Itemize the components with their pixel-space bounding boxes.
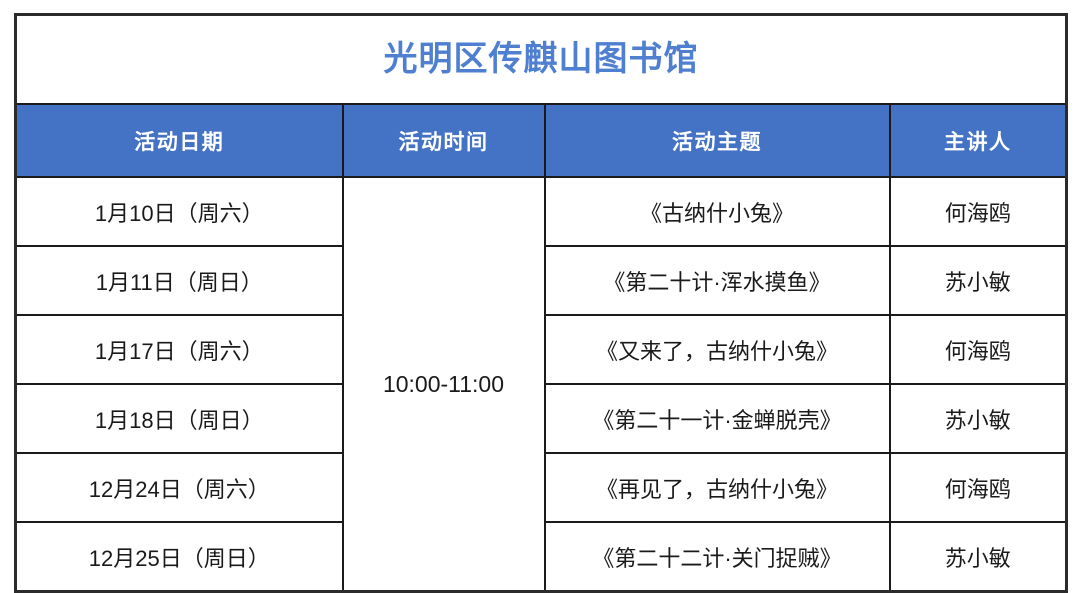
column-header-topic-label: 活动主题 <box>672 131 762 154</box>
column-header-time: 活动时间 <box>343 104 545 177</box>
activity-topic: 《古纳什小兔》 <box>640 201 794 226</box>
cell-time-merged: 10:00-11:00 <box>343 177 545 592</box>
cell-date: 12月24日（周六） <box>16 453 343 522</box>
activity-topic: 《再见了，古纳什小兔》 <box>596 477 838 502</box>
cell-date: 1月11日（周日） <box>16 246 343 315</box>
activity-topic: 《第二十二计·关门捉贼》 <box>592 546 841 571</box>
cell-speaker: 何海鸥 <box>890 177 1067 246</box>
cell-date: 1月10日（周六） <box>16 177 343 246</box>
column-header-time-label: 活动时间 <box>399 131 489 154</box>
column-header-topic: 活动主题 <box>545 104 890 177</box>
column-header-date: 活动日期 <box>16 104 343 177</box>
activity-speaker: 苏小敏 <box>945 408 1011 433</box>
activity-date: 12月24日（周六） <box>89 477 270 502</box>
cell-date: 12月25日（周日） <box>16 522 343 592</box>
cell-topic: 《第二十计·浑水摸鱼》 <box>545 246 890 315</box>
cell-topic: 《再见了，古纳什小兔》 <box>545 453 890 522</box>
column-header-speaker: 主讲人 <box>890 104 1067 177</box>
cell-speaker: 苏小敏 <box>890 246 1067 315</box>
schedule-table: 光明区传麒山图书馆 活动日期 活动时间 活动主题 主讲人 1月 <box>14 13 1068 593</box>
cell-topic: 《又来了，古纳什小兔》 <box>545 315 890 384</box>
activity-speaker: 何海鸥 <box>945 201 1011 226</box>
cell-date: 1月18日（周日） <box>16 384 343 453</box>
activity-speaker: 何海鸥 <box>945 477 1011 502</box>
title-row: 光明区传麒山图书馆 <box>16 15 1067 105</box>
cell-date: 1月17日（周六） <box>16 315 343 384</box>
activity-speaker: 何海鸥 <box>945 339 1011 364</box>
activity-date: 1月11日（周日） <box>96 270 263 295</box>
activity-date: 12月25日（周日） <box>89 546 270 571</box>
page-title: 光明区传麒山图书馆 <box>384 40 699 78</box>
title-cell: 光明区传麒山图书馆 <box>16 15 1067 105</box>
activity-topic: 《第二十一计·金蝉脱壳》 <box>592 408 841 433</box>
cell-speaker: 苏小敏 <box>890 522 1067 592</box>
table-row: 1月10日（周六） 10:00-11:00 《古纳什小兔》 何海鸥 <box>16 177 1067 246</box>
activity-speaker: 苏小敏 <box>945 546 1011 571</box>
activity-time: 10:00-11:00 <box>383 371 504 397</box>
activity-topic: 《第二十计·浑水摸鱼》 <box>603 270 830 295</box>
cell-topic: 《第二十二计·关门捉贼》 <box>545 522 890 592</box>
cell-speaker: 苏小敏 <box>890 384 1067 453</box>
library-activity-schedule: 光明区传麒山图书馆 活动日期 活动时间 活动主题 主讲人 1月 <box>14 13 1065 575</box>
cell-topic: 《古纳什小兔》 <box>545 177 890 246</box>
cell-topic: 《第二十一计·金蝉脱壳》 <box>545 384 890 453</box>
activity-date: 1月10日（周六） <box>95 201 264 226</box>
activity-date: 1月18日（周日） <box>95 408 264 433</box>
header-row: 活动日期 活动时间 活动主题 主讲人 <box>16 104 1067 177</box>
column-header-date-label: 活动日期 <box>134 131 224 154</box>
column-header-speaker-label: 主讲人 <box>944 131 1012 154</box>
activity-topic: 《又来了，古纳什小兔》 <box>596 339 838 364</box>
activity-speaker: 苏小敏 <box>945 270 1011 295</box>
cell-speaker: 何海鸥 <box>890 453 1067 522</box>
activity-date: 1月17日（周六） <box>95 339 264 364</box>
cell-speaker: 何海鸥 <box>890 315 1067 384</box>
